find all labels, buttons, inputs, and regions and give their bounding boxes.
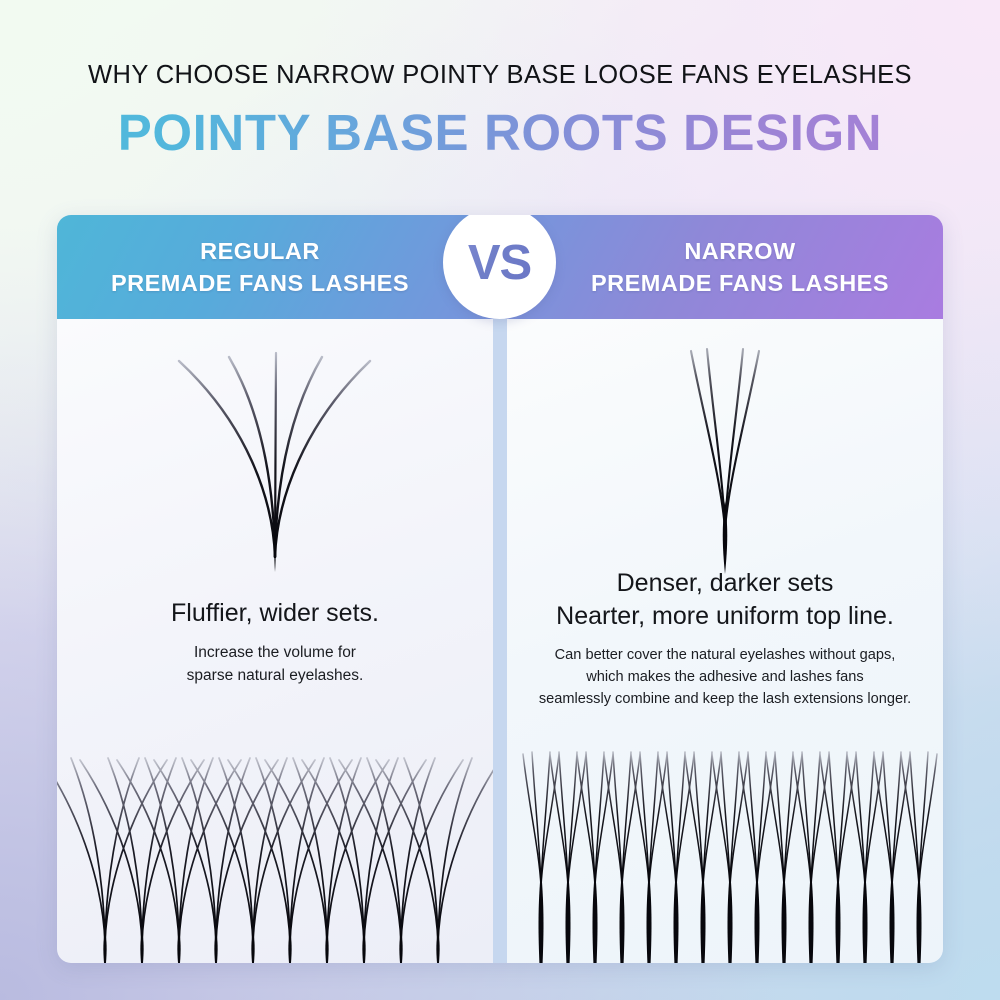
narrow-caption-sub: Can better cover the natural eyelashes w… [507,644,943,710]
page-title: POINTY BASE ROOTS DESIGN [0,103,1000,163]
right-header-line2: PREMADE FANS LASHES [591,267,889,299]
comparison-card: REGULAR PREMADE FANS LASHES NARROW PREMA… [57,215,943,963]
poster-background: WHY CHOOSE NARROW POINTY BASE LOOSE FANS… [0,0,1000,1000]
narrow-caption-line2: Nearter, more uniform top line. [507,600,943,633]
header-column-right: NARROW PREMADE FANS LASHES [537,215,943,319]
narrow-fan-illustration [507,329,943,574]
left-header-line1: REGULAR [200,235,320,267]
panel-divider [493,319,507,963]
vs-label: VS [468,235,531,291]
narrow-sub-line1: Can better cover the natural eyelashes w… [507,644,943,666]
comparison-body: Fluffier, wider sets. Increase the volum… [57,319,943,963]
regular-fan-illustration [57,329,493,574]
narrow-caption: Denser, darker sets Nearter, more unifor… [507,567,943,710]
narrow-fan-row [507,738,943,963]
regular-caption-main: Fluffier, wider sets. [57,597,493,630]
regular-sub-line2: sparse natural eyelashes. [57,664,493,687]
poster-heading: WHY CHOOSE NARROW POINTY BASE LOOSE FANS… [0,58,1000,163]
regular-sub-line1: Increase the volume for [57,641,493,664]
panel-regular: Fluffier, wider sets. Increase the volum… [57,319,493,963]
narrow-sub-line2: which makes the adhesive and lashes fans [507,666,943,688]
narrow-caption-main: Denser, darker sets Nearter, more unifor… [507,567,943,633]
poster-subtitle: WHY CHOOSE NARROW POINTY BASE LOOSE FANS… [0,58,1000,92]
regular-caption-sub: Increase the volume for sparse natural e… [57,641,493,687]
regular-fan-row [57,738,493,963]
narrow-caption-line1: Denser, darker sets [507,567,943,600]
header-column-left: REGULAR PREMADE FANS LASHES [57,215,463,319]
right-header-line1: NARROW [684,235,795,267]
panel-narrow: Denser, darker sets Nearter, more unifor… [507,319,943,963]
regular-caption: Fluffier, wider sets. Increase the volum… [57,597,493,687]
left-header-line2: PREMADE FANS LASHES [111,267,409,299]
narrow-sub-line3: seamlessly combine and keep the lash ext… [507,688,943,710]
